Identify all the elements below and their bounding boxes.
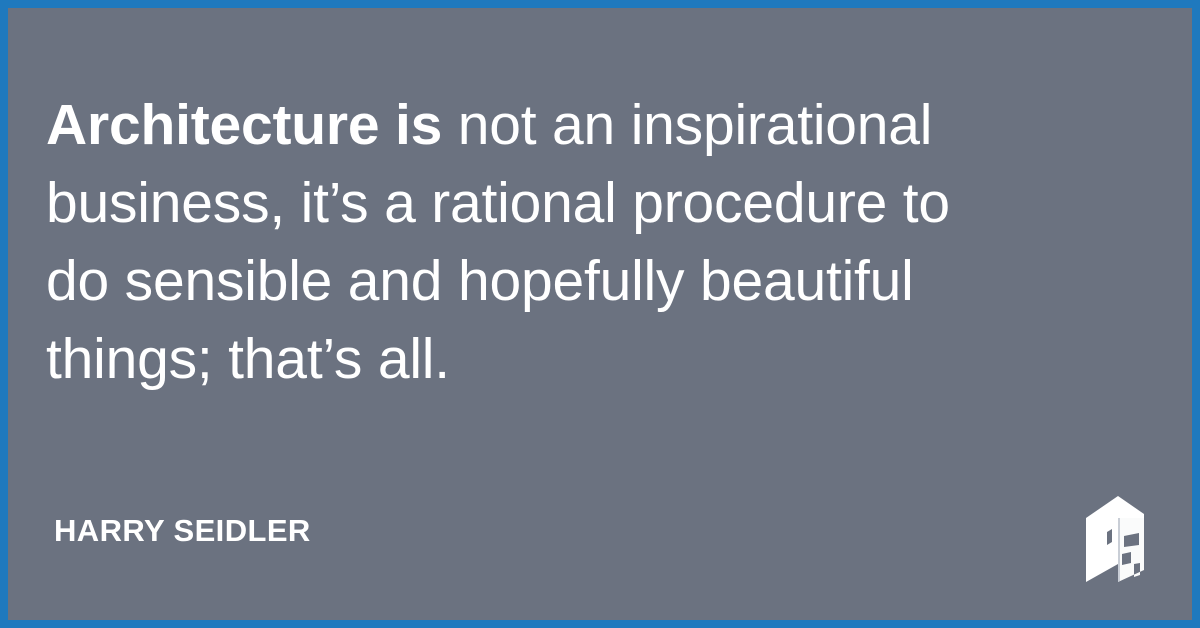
quote-line-rest: things; that’s all. [46,327,450,391]
quote-line-rest: not an inspirational [442,93,932,157]
isometric-house-icon [1082,492,1154,586]
quote-line: business, it’s a rational procedure to [46,164,1046,242]
quote-text: Architecture is not an inspirational bus… [46,86,1046,398]
quote-attribution: HARRY SEIDLER [54,513,311,549]
quote-lead-bold: Architecture is [46,93,442,157]
quote-line-rest: business, it’s a rational procedure to [46,171,950,235]
quote-line-rest: do sensible and hopefully beautiful [46,249,914,313]
quote-line: do sensible and hopefully beautiful [46,242,1046,320]
quote-line: Architecture is not an inspirational [46,86,1046,164]
quote-card: Architecture is not an inspirational bus… [0,0,1200,628]
quote-line: things; that’s all. [46,320,1046,398]
